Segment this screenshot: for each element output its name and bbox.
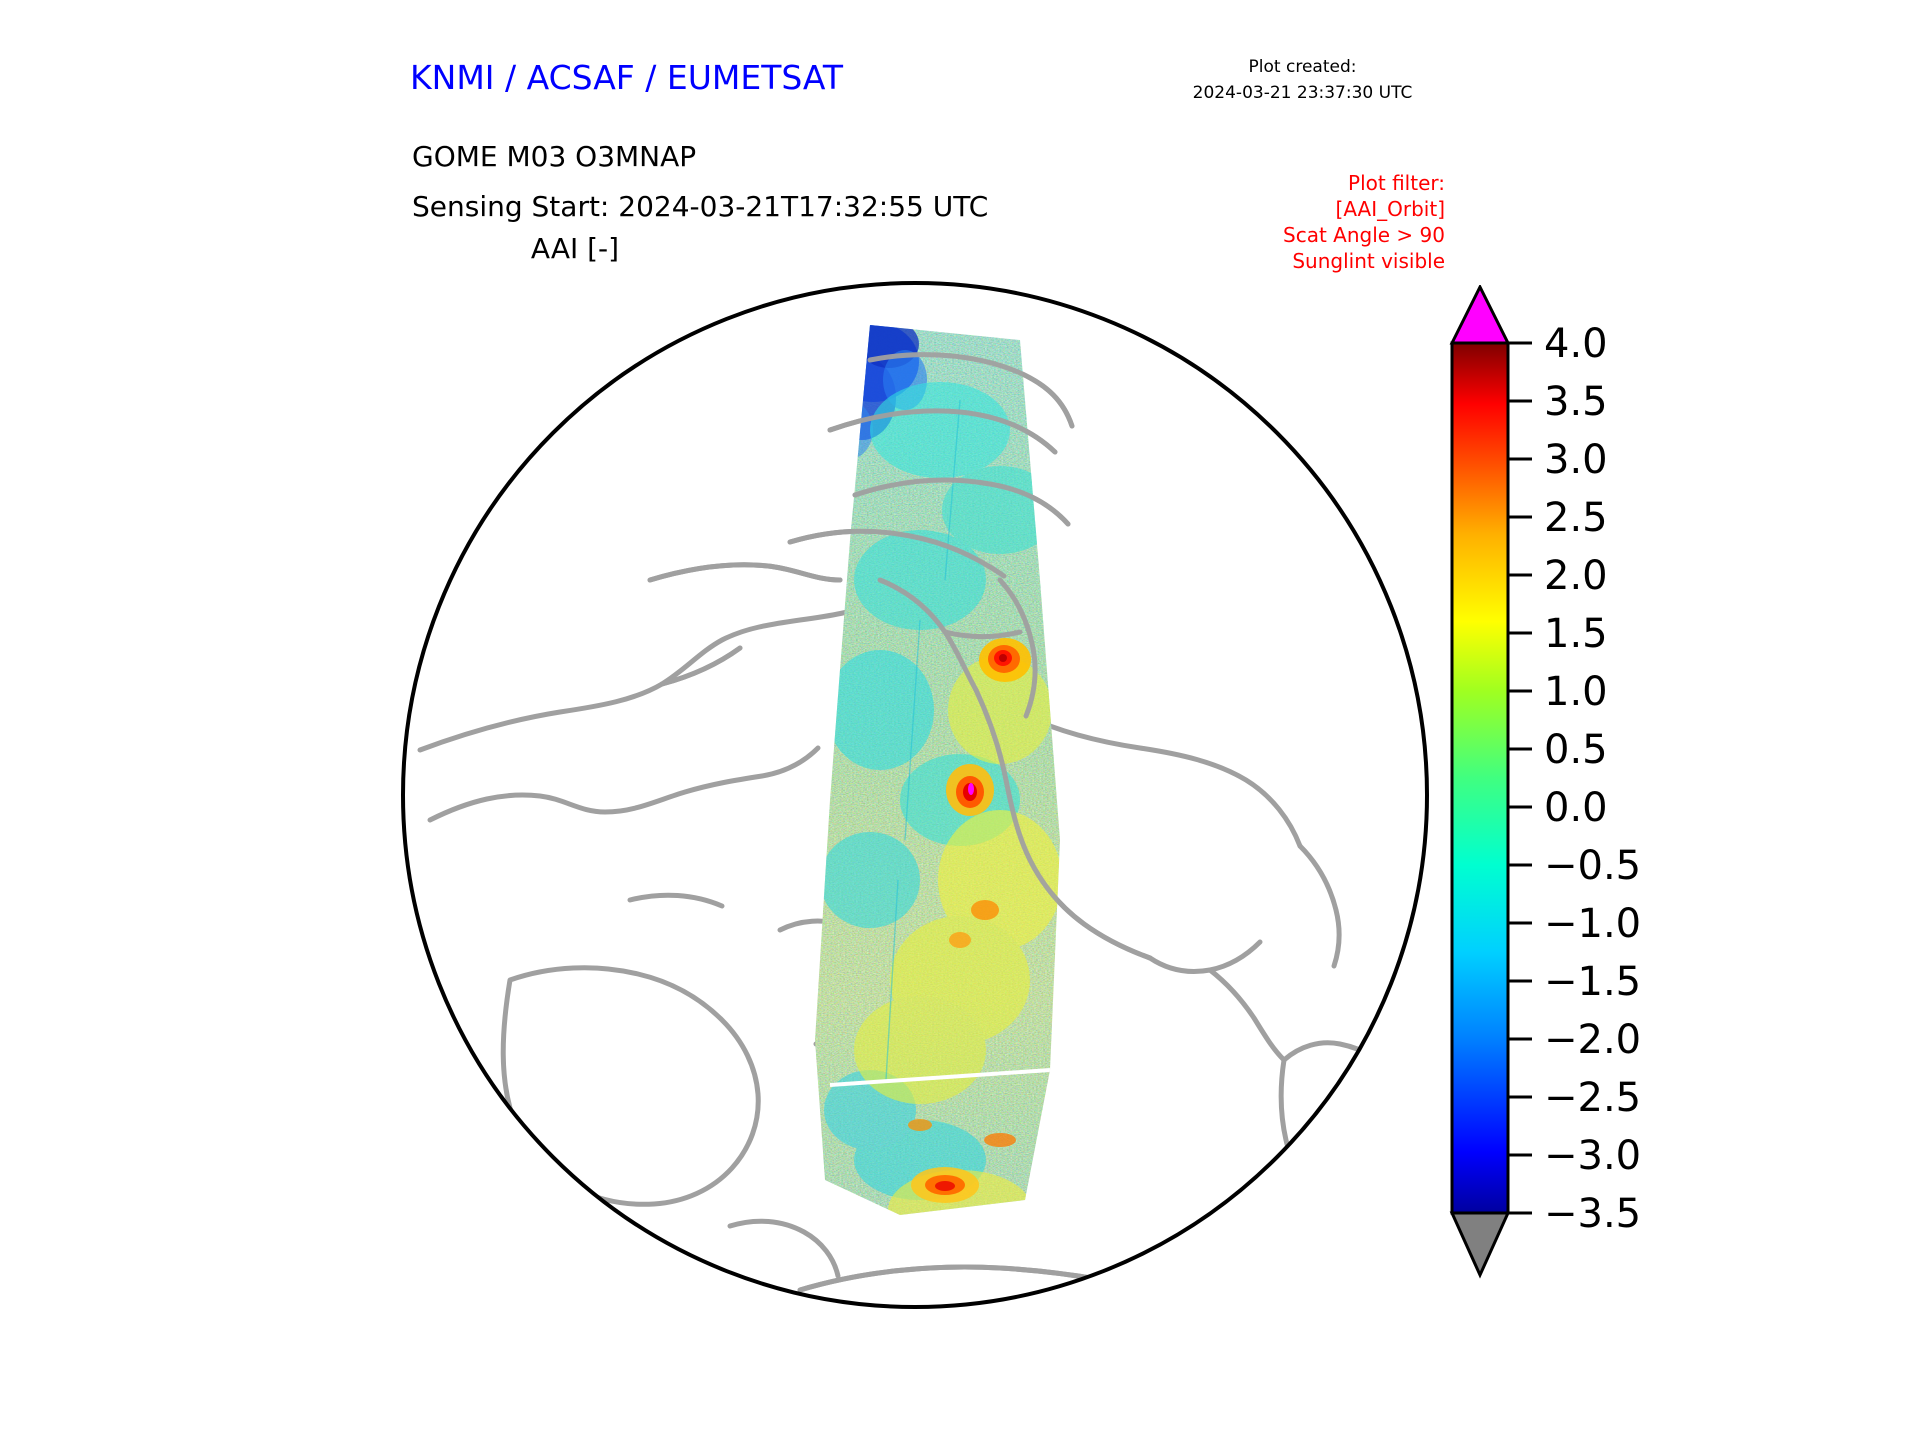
colorbar-gradient [1452,343,1508,1213]
plot-page: KNMI / ACSAF / EUMETSAT Plot created: 20… [0,0,1920,1440]
colorbar-tick-labels: 4.03.53.02.52.01.51.00.50.0−0.5−1.0−1.5−… [1544,321,1641,1237]
colorbar-tick-label: −1.5 [1544,959,1641,1005]
swath-hotspot-central [946,764,994,816]
map-area [400,280,1430,1310]
colorbar-tick-label: 0.5 [1544,727,1608,773]
coast-sa-south [1320,1284,1358,1310]
colorbar-tick-label: 0.0 [1544,785,1608,831]
colorbar-ticks [1508,343,1532,1213]
colorbar-tick-label: 3.0 [1544,437,1608,483]
colorbar-over-arrow [1452,287,1508,343]
colorbar-tick-label: 2.0 [1544,553,1608,599]
colorbar-tick-label: 3.5 [1544,379,1608,425]
colorbar: 4.03.53.02.52.01.51.00.50.0−0.5−1.0−1.5−… [1440,285,1780,1295]
colorbar-tick-label: −1.0 [1544,901,1641,947]
globe-map [400,280,1430,1310]
plot-filter-block: Plot filter: [AAI_Orbit] Scat Angle > 90… [1110,170,1445,274]
swath-hotspot-south [911,1167,979,1203]
colorbar-tick-label: −2.0 [1544,1017,1641,1063]
colorbar-tick-label: 4.0 [1544,321,1608,367]
swath-hotspot-north [979,638,1031,682]
coast-antarctic-peninsula [1220,1226,1340,1260]
filter-line-3: Scat Angle > 90 [1110,222,1445,248]
plot-created-label: Plot created: [1160,57,1445,77]
colorbar-under-arrow [1452,1213,1508,1275]
coast-sa-east [1358,1160,1430,1284]
plot-title: AAI [-] [0,232,1150,265]
colorbar-tick-label: −2.5 [1544,1075,1641,1121]
colorbar-tick-label: 1.0 [1544,669,1608,715]
colorbar-tick-label: 2.5 [1544,495,1608,541]
sensing-start: Sensing Start: 2024-03-21T17:32:55 UTC [412,190,988,223]
organisation-title: KNMI / ACSAF / EUMETSAT [410,58,843,97]
plot-created-timestamp: 2024-03-21 23:37:30 UTC [1160,83,1445,103]
product-name: GOME M03 O3MNAP [412,140,696,173]
colorbar-tick-label: 1.5 [1544,611,1608,657]
colorbar-tick-label: −0.5 [1544,843,1641,889]
colorbar-tick-label: −3.5 [1544,1191,1641,1237]
colorbar-tick-label: −3.0 [1544,1133,1641,1179]
filter-line-2: [AAI_Orbit] [1110,196,1445,222]
filter-line-4: Sunglint visible [1110,248,1445,274]
filter-line-1: Plot filter: [1110,170,1445,196]
